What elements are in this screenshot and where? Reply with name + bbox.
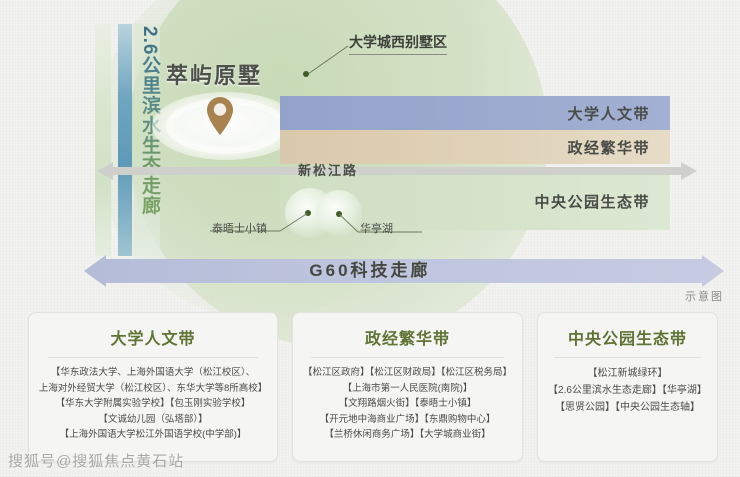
road-label: 新松江路 <box>298 160 358 182</box>
card-divider <box>311 357 503 358</box>
band-university: 大学人文带 <box>280 96 670 130</box>
card-university-title: 大学人文带 <box>110 321 195 357</box>
card-line: 【华东政法大学、上海外国语大学（松江校区）、 <box>51 365 255 381</box>
road-arrow <box>97 160 697 182</box>
band-central-park-label: 中央公园生态带 <box>534 191 650 212</box>
watermark: 搜狐号@搜狐焦点黄石站 <box>8 450 184 471</box>
card-divider <box>554 357 700 358</box>
callout-villa-label: 大学城西别墅区 <box>349 32 447 55</box>
poi-label-thames: 泰晤士小镇 <box>212 220 267 236</box>
waterfront-bar-water <box>118 24 132 256</box>
card-line: 【文翔路烟火街】【泰晤士小镇】 <box>339 396 477 412</box>
card-central-park-title: 中央公园生态带 <box>568 321 687 357</box>
schematic-map: 2.6公里滨水生态走廊 萃屿原墅 大学城西别墅区 大学人文带 政经繁华带 中央公… <box>0 0 740 310</box>
card-line: 【2.6公里滨水生态走廊】【华亭湖】 <box>548 382 707 399</box>
band-university-label: 大学人文带 <box>567 103 650 124</box>
band-economy: 政经繁华带 <box>280 130 670 164</box>
card-line: 【华东大学附属实验学校】【包玉刚实验学校】 <box>56 396 251 412</box>
g60-corridor-label: G60科技走廊 <box>0 254 740 288</box>
card-divider <box>48 357 258 358</box>
card-line: 【上海外国语大学松江外国语学校(中学部)】 <box>60 427 247 443</box>
card-line: 【开元地中海商业广场】【东鼎购物中心】 <box>320 412 496 428</box>
waterfront-bar-left <box>95 24 111 256</box>
band-economy-label: 政经繁华带 <box>567 137 650 158</box>
poi-dot-thames <box>305 210 311 216</box>
poi-label-lake: 华亭湖 <box>360 220 393 236</box>
info-cards: 大学人文带 【华东政法大学、上海外国语大学（松江校区）、 上海对外经贸大学（松江… <box>0 312 740 462</box>
card-economy-title: 政经繁华带 <box>365 321 450 357</box>
card-line: 【思贤公园】【中央公园生态轴】 <box>555 399 700 416</box>
callout-anchor-dot <box>303 71 309 77</box>
project-name: 萃屿原墅 <box>166 58 262 90</box>
card-line: 上海对外经贸大学（松江校区）、东华大学等8所高校】 <box>39 381 268 397</box>
card-economy: 政经繁华带 【松江区政府】【松江区财政局】【松江区税务局】 【上海市第一人民医院… <box>292 312 523 462</box>
poi-dot-lake <box>336 211 342 217</box>
card-central-park: 中央公园生态带 【松江新城绿环】 【2.6公里滨水生态走廊】【华亭湖】 【思贤公… <box>537 312 718 462</box>
map-pin-icon <box>205 96 235 136</box>
card-university: 大学人文带 【华东政法大学、上海外国语大学（松江校区）、 上海对外经贸大学（松江… <box>28 312 278 462</box>
card-line: 【兰桥休闲商务广场】【大学城商业街】 <box>324 427 490 443</box>
card-line: 【文诚幼儿园（弘塔部）】 <box>98 412 207 428</box>
card-line: 【松江新城绿环】 <box>587 365 667 382</box>
card-line: 【上海市第一人民医院(南院)】 <box>343 381 473 397</box>
map-disclaimer: 示意图 <box>685 288 724 304</box>
card-line: 【松江区政府】【松江区财政局】【松江区税务局】 <box>303 365 512 381</box>
